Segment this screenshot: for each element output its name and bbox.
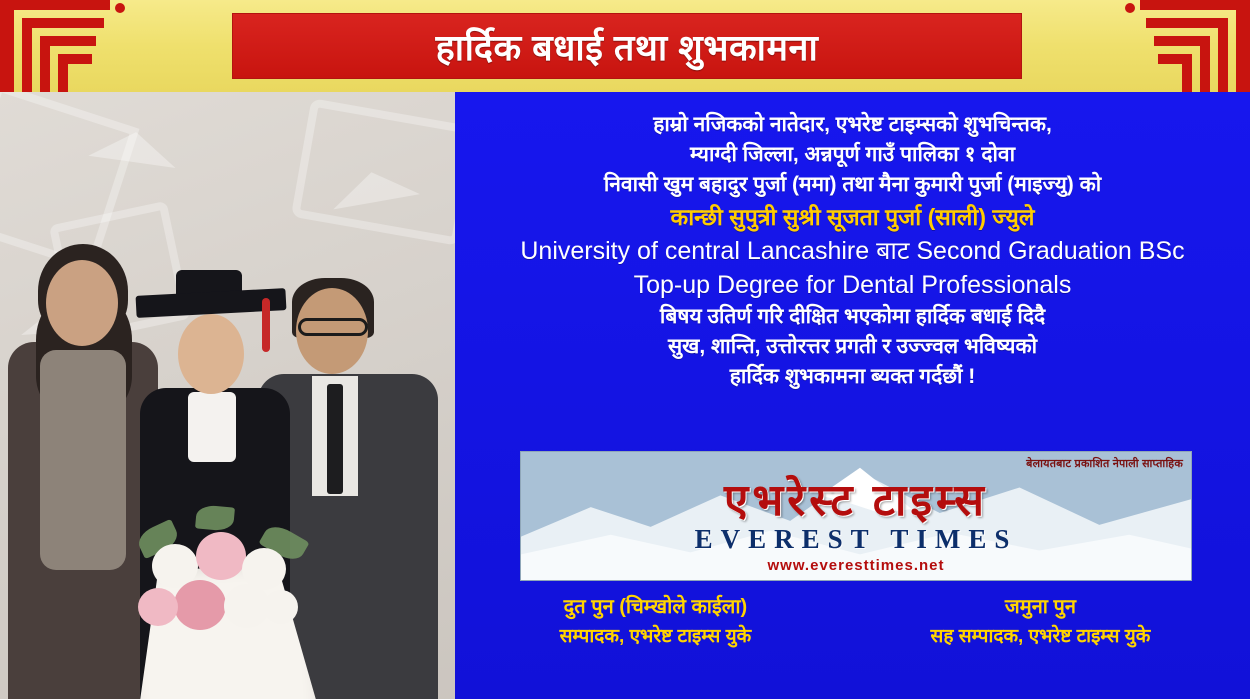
message-line: निवासी खुम बहादुर पुर्जा (ममा) तथा मैना … (471, 170, 1234, 200)
message-line: हाम्रो नजिकको नातेदार, एभरेष्ट टाइम्सको … (471, 110, 1234, 140)
greeting-poster: हार्दिक बधाई तथा शुभकामना (0, 0, 1250, 699)
logo-website: www.everesttimes.net (521, 557, 1191, 574)
top-decorative-band: हार्दिक बधाई तथा शुभकामना (0, 0, 1250, 92)
signature-editor: दुत पुन (चिम्खोले काईला) सम्पादक, एभरेष्… (560, 592, 752, 651)
signature-name: जमुना पुन (931, 592, 1151, 622)
poster-title-banner: हार्दिक बधाई तथा शुभकामना (232, 13, 1022, 79)
flower-bouquet (112, 472, 332, 699)
message-line-english: University of central Lancashire बाट Sec… (471, 234, 1234, 268)
corner-ornament-right-icon (1020, 0, 1250, 92)
message-lines: हाम्रो नजिकको नातेदार, एभरेष्ट टाइम्सको … (471, 110, 1234, 392)
poster-title: हार्दिक बधाई तथा शुभकामना (436, 22, 819, 71)
message-line: सुख, शान्ति, उत्तोरत्तर प्रगती र उज्ज्वल… (471, 332, 1234, 362)
graduation-photo (0, 92, 455, 699)
message-line-english: Top-up Degree for Dental Professionals (471, 268, 1234, 302)
signatures: दुत पुन (चिम्खोले काईला) सम्पादक, एभरेष्… (470, 592, 1240, 651)
logo-name-devanagari: एभरेस्ट टाइम्स (521, 468, 1191, 528)
everest-times-logo: बेलायतबाट प्रकाशित नेपाली साप्ताहिक एभरे… (520, 451, 1192, 581)
logo-name-english: EVEREST TIMES (521, 524, 1191, 555)
message-line-highlight: कान्छी सुपुत्री सुश्री सूजता पुर्जा (साल… (471, 200, 1234, 234)
message-line: म्याग्दी जिल्ला, अन्नपूर्ण गाउँ पालिका १… (471, 140, 1234, 170)
message-line: हार्दिक शुभकामना ब्यक्त गर्दछौं ! (471, 362, 1234, 392)
signature-name: दुत पुन (चिम्खोले काईला) (560, 592, 752, 622)
signature-role: सह सम्पादक, एभरेष्ट टाइम्स युके (931, 622, 1151, 651)
message-line: बिषय उतिर्ण गरि दीक्षित भएकोमा हार्दिक ब… (471, 302, 1234, 332)
signature-co-editor: जमुना पुन सह सम्पादक, एभरेष्ट टाइम्स युक… (931, 592, 1151, 651)
corner-ornament-left-icon (0, 0, 230, 92)
signature-role: सम्पादक, एभरेष्ट टाइम्स युके (560, 622, 752, 651)
